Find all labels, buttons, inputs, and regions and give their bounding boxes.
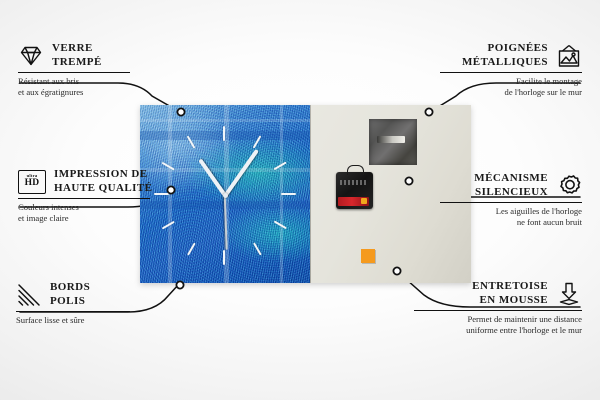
callout-title-line2: EN MOUSSE	[472, 294, 548, 308]
gear-icon	[556, 173, 582, 199]
callout-bords-polis[interactable]: BORDS POLIS Surface lisse et sûre	[16, 281, 146, 326]
callout-divider	[16, 311, 130, 312]
dot-poignees	[425, 108, 432, 115]
picture-hanger-icon	[556, 43, 582, 69]
dot-mecanisme	[405, 177, 412, 184]
callout-divider	[414, 310, 582, 311]
dot-bords-polis	[176, 281, 183, 288]
ultra-hd-main-text: HD	[25, 179, 40, 189]
polished-edge-icon	[16, 282, 42, 308]
callout-title-line1: ENTRETOISE	[472, 280, 548, 294]
infographic-canvas: VERRE TREMPÉ Résistant aux bris et aux é…	[0, 0, 600, 400]
callout-title-line1: IMPRESSION DE	[54, 168, 152, 182]
callout-title-line1: MÉCANISME	[474, 172, 548, 186]
dot-entretoise	[393, 267, 400, 274]
callout-title-line2: HAUTE QUALITÉ	[54, 182, 152, 196]
callout-divider	[18, 72, 130, 73]
callout-entretoise-en-mousse[interactable]: ENTRETOISE EN MOUSSE Permet de maintenir…	[396, 280, 582, 336]
callout-title-line1: POIGNÉES	[462, 42, 548, 56]
callout-subtitle-line2: et aux égratignures	[18, 87, 148, 98]
callout-divider	[440, 202, 582, 203]
callout-subtitle-line2: et image claire	[18, 213, 168, 224]
dot-verre-trempe	[177, 108, 184, 115]
callout-title-line2: MÉTALLIQUES	[462, 56, 548, 70]
callout-header: VERRE TREMPÉ	[18, 42, 148, 69]
callout-subtitle-line1: Résistant aux bris	[18, 76, 148, 87]
callout-divider	[18, 198, 150, 199]
dot-impression	[167, 186, 174, 193]
callout-title-line2: TREMPÉ	[52, 56, 102, 70]
callout-subtitle-line2: ne font aucun bruit	[422, 217, 582, 228]
callout-impression-haute-qualite[interactable]: ultra HD IMPRESSION DE HAUTE QUALITÉ Cou…	[18, 168, 168, 224]
callout-verre-trempe[interactable]: VERRE TREMPÉ Résistant aux bris et aux é…	[18, 42, 148, 98]
callout-header: ultra HD IMPRESSION DE HAUTE QUALITÉ	[18, 168, 168, 195]
callout-header: MÉCANISME SILENCIEUX	[422, 172, 582, 199]
callout-header: POIGNÉES MÉTALLIQUES	[422, 42, 582, 69]
callout-title-line2: SILENCIEUX	[474, 186, 548, 200]
callout-subtitle-line2: uniforme entre l'horloge et le mur	[396, 325, 582, 336]
diamond-icon	[18, 43, 44, 69]
callout-subtitle-line1: Couleurs intenses	[18, 202, 168, 213]
callout-subtitle-line1: Surface lisse et sûre	[16, 315, 146, 326]
callout-title-line1: BORDS	[50, 281, 90, 295]
callout-title-line2: POLIS	[50, 295, 90, 309]
callout-subtitle-line2: de l'horloge sur le mur	[422, 87, 582, 98]
callout-header: ENTRETOISE EN MOUSSE	[396, 280, 582, 307]
callout-divider	[440, 72, 582, 73]
callout-subtitle-line1: Les aiguilles de l'horloge	[422, 206, 582, 217]
callout-header: BORDS POLIS	[16, 281, 146, 308]
callout-title-line1: VERRE	[52, 42, 102, 56]
callout-mecanisme-silencieux[interactable]: MÉCANISME SILENCIEUX Les aiguilles de l'…	[422, 172, 582, 228]
arrow-down-stack-icon	[556, 281, 582, 307]
callout-subtitle-line1: Facilite le montage	[422, 76, 582, 87]
ultra-hd-icon: ultra HD	[18, 170, 46, 194]
callout-subtitle-line1: Permet de maintenir une distance	[396, 314, 582, 325]
callout-poignees-metalliques[interactable]: POIGNÉES MÉTALLIQUES Facilite le montage…	[422, 42, 582, 98]
